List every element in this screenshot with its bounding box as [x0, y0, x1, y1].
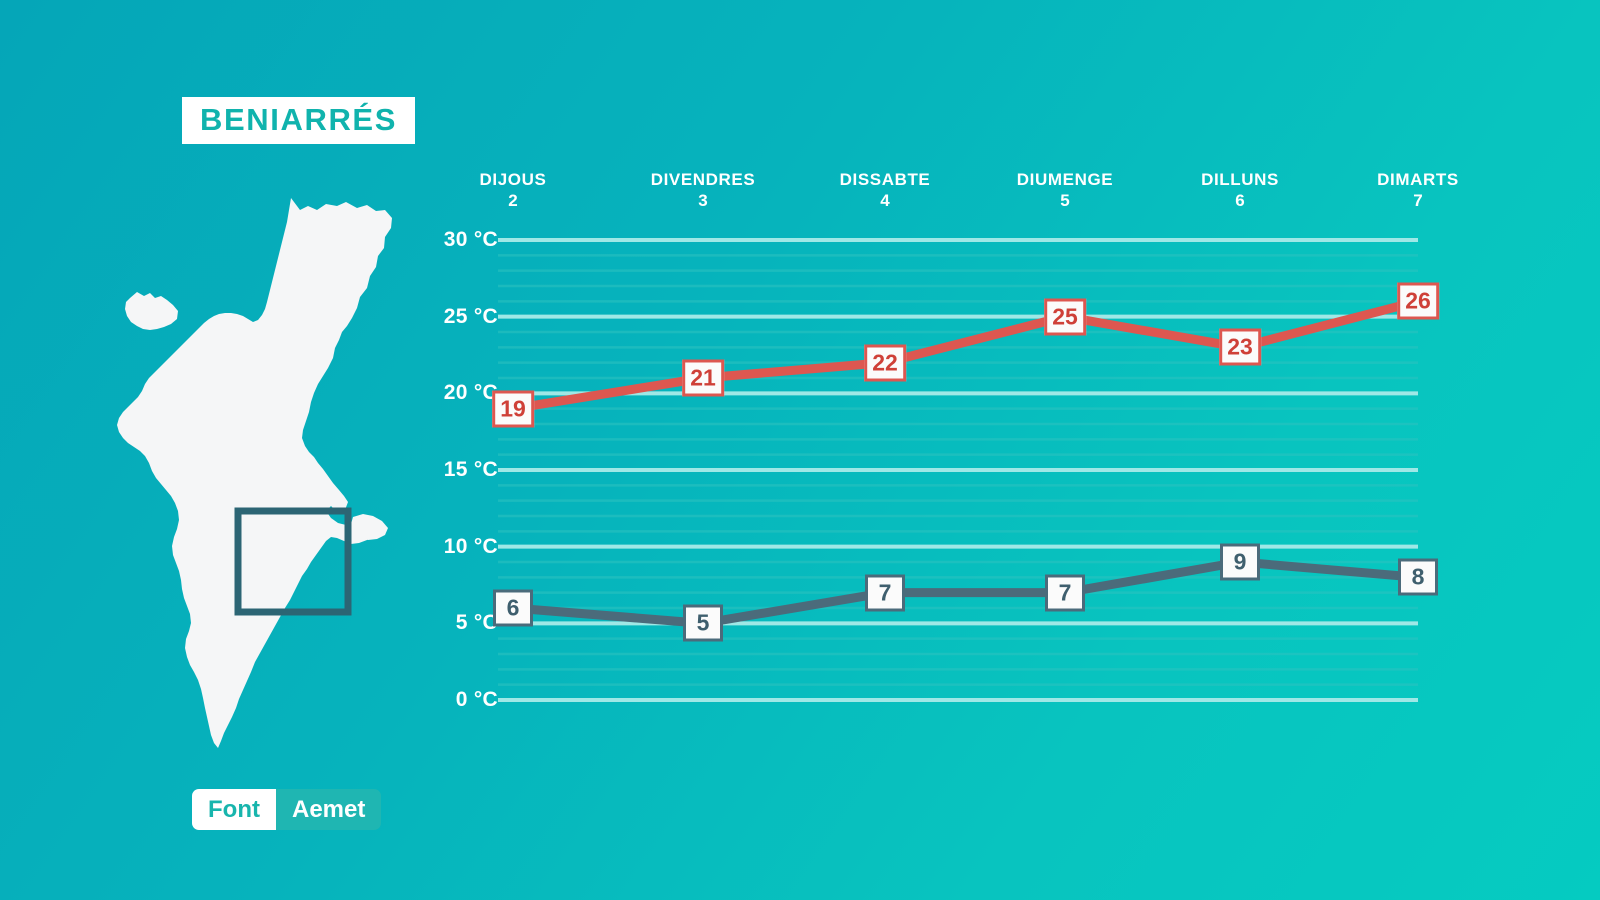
- chart-svg: [430, 225, 1550, 715]
- y-axis-tick-label: 25 °C: [444, 305, 498, 329]
- day-column-header: DILLUNS6: [1201, 170, 1279, 211]
- y-axis-tick-label: 5 °C: [456, 611, 498, 635]
- region-map: [95, 180, 425, 755]
- min-temp-value-badge: 6: [493, 590, 533, 627]
- min-temp-value-badge: 7: [865, 574, 905, 611]
- min-temp-value-badge: 7: [1045, 574, 1085, 611]
- day-column-header: DIUMENGE5: [1017, 170, 1113, 211]
- day-name: DISSABTE: [840, 170, 931, 190]
- day-name: DILLUNS: [1201, 170, 1279, 190]
- max-temp-value-badge: 26: [1397, 283, 1439, 320]
- temperature-chart: DIJOUS2DIVENDRES3DISSABTE4DIUMENGE5DILLU…: [430, 170, 1550, 730]
- max-temp-value-badge: 25: [1044, 298, 1086, 335]
- day-column-header: DIVENDRES3: [651, 170, 756, 211]
- day-number: 3: [651, 190, 756, 211]
- location-title-badge: BENIARRÉS: [182, 97, 415, 144]
- day-number: 7: [1377, 190, 1459, 211]
- day-headers: DIJOUS2DIVENDRES3DISSABTE4DIUMENGE5DILLU…: [430, 170, 1550, 225]
- day-column-header: DISSABTE4: [840, 170, 931, 211]
- day-number: 5: [1017, 190, 1113, 211]
- min-temp-value-badge: 9: [1220, 544, 1260, 581]
- day-number: 6: [1201, 190, 1279, 211]
- y-axis-tick-label: 0 °C: [456, 688, 498, 712]
- y-axis-tick-label: 30 °C: [444, 228, 498, 252]
- y-axis-tick-label: 10 °C: [444, 535, 498, 559]
- grid-major-lines: [498, 240, 1418, 700]
- day-number: 2: [480, 190, 547, 211]
- series-lines: [513, 301, 1418, 623]
- day-number: 4: [840, 190, 931, 211]
- chart-plot-area: 0 °C5 °C10 °C15 °C20 °C25 °C30 °C1921222…: [430, 225, 1550, 715]
- max-temp-value-badge: 19: [492, 390, 534, 427]
- max-temp-value-badge: 21: [682, 360, 724, 397]
- source-value: Aemet: [276, 789, 381, 830]
- max-temp-value-badge: 22: [864, 344, 906, 381]
- y-axis-tick-label: 15 °C: [444, 458, 498, 482]
- min-temp-value-badge: 5: [683, 605, 723, 642]
- day-column-header: DIMARTS7: [1377, 170, 1459, 211]
- day-name: DIMARTS: [1377, 170, 1459, 190]
- max-temp-value-badge: 23: [1219, 329, 1261, 366]
- day-column-header: DIJOUS2: [480, 170, 547, 211]
- day-name: DIUMENGE: [1017, 170, 1113, 190]
- day-name: DIVENDRES: [651, 170, 756, 190]
- source-attribution: Font Aemet: [192, 789, 381, 830]
- day-name: DIJOUS: [480, 170, 547, 190]
- page-title: BENIARRÉS: [200, 104, 397, 135]
- min-temp-value-badge: 8: [1398, 559, 1438, 596]
- map-landmass: [117, 198, 392, 748]
- source-label: Font: [192, 789, 276, 830]
- y-axis-tick-label: 20 °C: [444, 381, 498, 405]
